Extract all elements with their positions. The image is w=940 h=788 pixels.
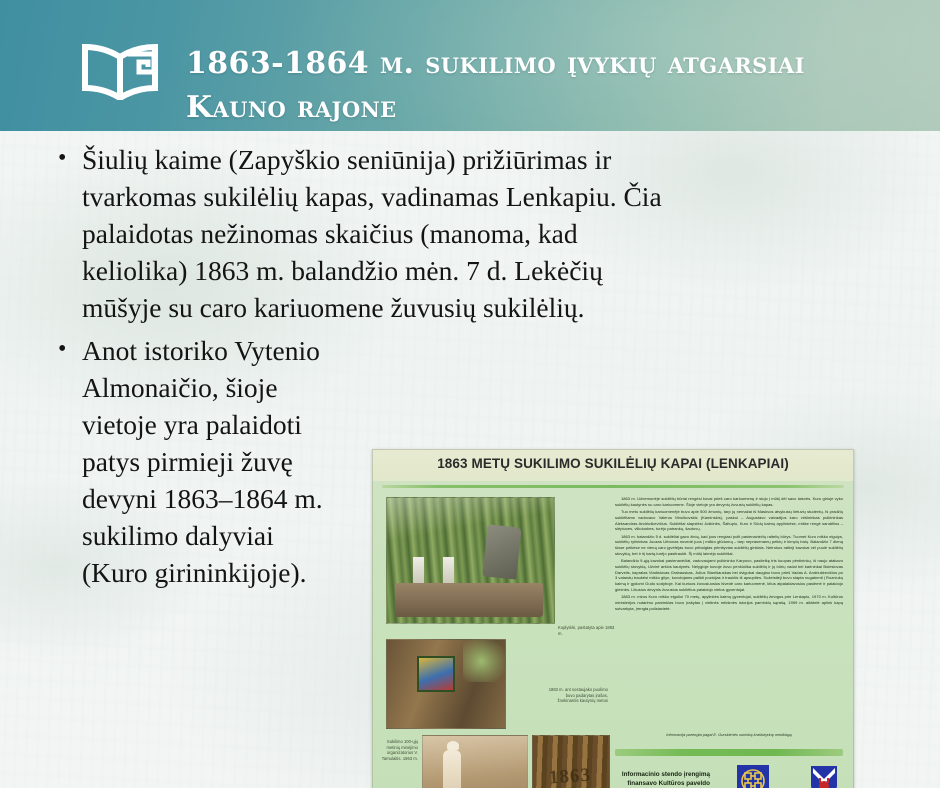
page-title-line-1: 1863-1864 m. sukilimo įvykių atgarsiai xyxy=(186,42,906,86)
carved-slab-shape xyxy=(395,583,543,617)
photo-caption: Koplytėlė, pastatyta apie 1883 m. xyxy=(558,625,618,636)
memorial-stone-shape xyxy=(482,524,521,579)
photo-caption: Sukilimo 100-ųjų metinių minėjimo organi… xyxy=(378,739,418,761)
photo-caption: 1883 m. ant sostaujako puolimo buvo pada… xyxy=(544,687,608,704)
poster-paragraph: 1883 m. mirus Kuro miško eiguliui 70 met… xyxy=(615,594,843,611)
heritage-emblem-icon xyxy=(737,765,769,788)
tree-shrine-photo xyxy=(386,639,506,729)
page-title-line-2: Kauno rajone xyxy=(186,86,906,130)
carved-date-mark: 1863 xyxy=(548,765,591,788)
kauno-rajono-savivaldybe-logo: Kauno rajono savivaldybė xyxy=(794,765,854,788)
municipality-coat-of-arms-icon xyxy=(810,765,838,788)
open-book-icon xyxy=(82,28,162,100)
sepia-ceremony-photo xyxy=(422,735,528,788)
slide-body: Šiulių kaime (Zapyškio seniūnija) prižiū… xyxy=(0,131,940,788)
list-item: Šiulių kaime (Zapyškio seniūnija) prižiū… xyxy=(54,141,682,326)
grave-post-shape xyxy=(443,557,454,585)
forest-grave-photo xyxy=(386,497,555,624)
header-banner: 1863-1864 m. sukilimo įvykių atgarsiai K… xyxy=(0,0,940,131)
poster-paragraph: Balandžio 9-ąją kazokai pasienavėčiai, v… xyxy=(615,558,843,593)
poster-source-note: Informacija parengta pagal E. Gurskienės… xyxy=(615,732,843,737)
poster-divider-bottom xyxy=(615,749,843,756)
poster-paragraph: 1863 m. Užnemunėje sukilėlių būriai reng… xyxy=(615,496,843,508)
carved-trunk-photo: 1863 xyxy=(532,735,610,788)
poster-paragraph: Tuo metu sukilėlių kariuomenėje buvo api… xyxy=(615,509,843,532)
poster-paragraph: 1863 m. balandžio 5 d. sukilėliai gavo ž… xyxy=(615,534,843,557)
poster-divider-top xyxy=(382,485,844,488)
foliage-shape xyxy=(463,639,506,682)
wooden-shrine-shape xyxy=(417,656,455,692)
list-item: Anot istoriko Vytenio Almonaičio, šioje … xyxy=(54,332,340,591)
slide-root: 1863-1864 m. sukilimo įvykių atgarsiai K… xyxy=(0,0,940,788)
poster-funding-note: Informacinio stendo įrengimą finansavo K… xyxy=(618,770,710,788)
poster-title: 1863 METŲ SUKILIMO SUKILĖLIŲ KAPAI (LENK… xyxy=(372,456,854,471)
kulturos-paveldo-departamentas-logo: Kultūros paveldo departamentas xyxy=(720,765,786,788)
information-stand-poster-image[interactable]: 1863 METŲ SUKILIMO SUKILĖLIŲ KAPAI (LENK… xyxy=(372,449,854,788)
page-title: 1863-1864 m. sukilimo įvykių atgarsiai K… xyxy=(186,42,906,130)
poster-body-text: 1863 m. Užnemunėje sukilėlių būriai reng… xyxy=(615,496,843,613)
grave-post-shape xyxy=(413,557,424,585)
poster-canvas: 1863 METŲ SUKILIMO SUKILĖLIŲ KAPAI (LENK… xyxy=(372,449,854,788)
person-figure-shape xyxy=(443,750,461,788)
